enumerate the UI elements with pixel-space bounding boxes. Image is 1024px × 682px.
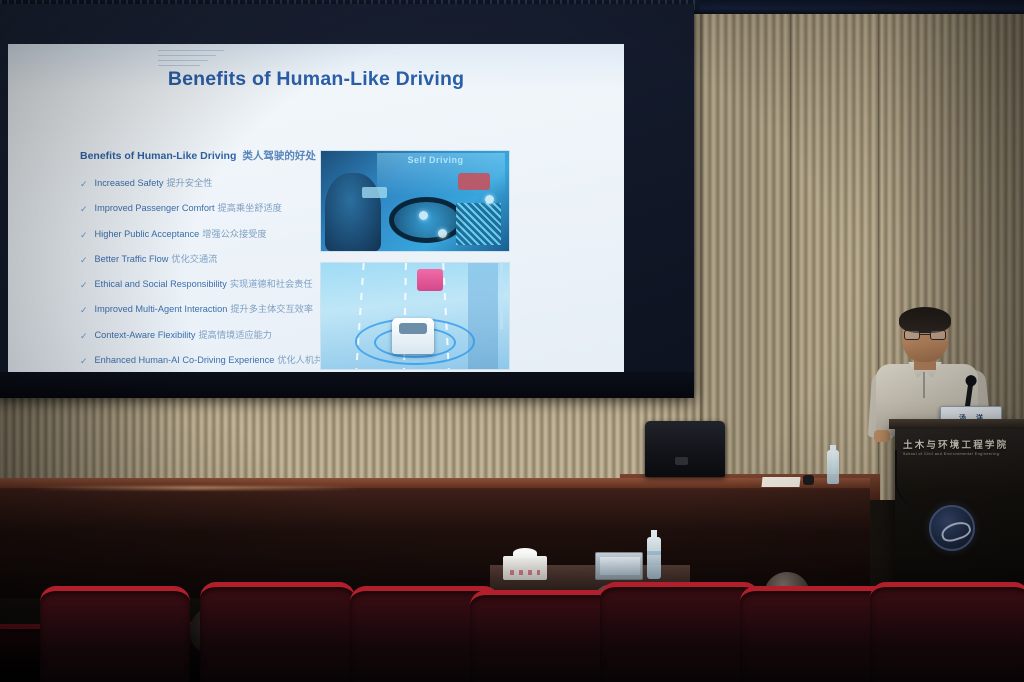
check-icon: ✓	[80, 355, 88, 367]
bullet-text-en: Improved Multi-Agent Interaction	[95, 304, 228, 314]
bullet-text-en: Improved Passenger Comfort	[95, 203, 215, 213]
bullet-text-cn: 提高情境适应能力	[198, 330, 272, 340]
lecture-hall-scene: Benefits of Human-Like Driving Benefits …	[0, 0, 1024, 682]
small-device	[803, 475, 814, 485]
hud-dot-icon	[485, 195, 494, 204]
self-driving-overlay-label: Self Driving	[407, 156, 463, 165]
papers	[761, 477, 800, 487]
projection-screen: Benefits of Human-Like Driving Benefits …	[0, 4, 694, 398]
slide-image-self-driving-cockpit: Self Driving	[320, 150, 510, 252]
slide-bullet-text: Better Traffic Flow优化交通流	[95, 254, 218, 266]
driver-silhouette	[325, 173, 381, 251]
slide-subheading-en: Benefits of Human-Like Driving	[80, 150, 236, 162]
auditorium-seat	[600, 582, 760, 682]
check-icon: ✓	[80, 330, 88, 342]
auditorium-seat	[740, 586, 890, 682]
water-bottle-desk	[827, 450, 839, 484]
slide-title: Benefits of Human-Like Driving	[8, 68, 624, 91]
slide-bullet-text: Enhanced Human-AI Co-Driving Experience优…	[95, 355, 351, 367]
podium-top-surface	[889, 419, 1024, 429]
bullet-text-en: Better Traffic Flow	[95, 254, 169, 264]
bullet-text-en: Enhanced Human-AI Co-Driving Experience	[95, 355, 275, 365]
speaker-shirt-placket	[923, 372, 925, 398]
bullet-text-en: Higher Public Acceptance	[95, 229, 200, 239]
podium-sign-chinese: 土木与环境工程学院	[903, 437, 1021, 451]
glasses-icon	[904, 330, 946, 340]
guardrail	[468, 263, 498, 369]
bullet-text-en: Increased Safety	[95, 178, 164, 188]
slide-subheading-cn: 类人驾驶的好处	[242, 150, 316, 162]
red-car-shape	[458, 173, 490, 190]
steering-wheel-shape	[389, 197, 464, 243]
check-icon: ✓	[80, 203, 88, 215]
check-icon: ✓	[80, 178, 88, 190]
side-mirror-shape	[362, 187, 386, 198]
bullet-text-cn: 增强公众接受度	[202, 229, 266, 239]
hud-dot-icon	[438, 229, 447, 238]
audience-area	[0, 560, 1024, 682]
bullet-text-cn: 提升多主体交互效率	[230, 304, 313, 314]
light-pole	[500, 263, 503, 329]
check-icon: ✓	[80, 279, 88, 291]
desk-highlight	[30, 486, 360, 490]
bullet-text-cn: 优化交通流	[171, 254, 217, 264]
slide-bullet-text: Increased Safety提升安全性	[95, 178, 213, 190]
auditorium-seat	[470, 590, 620, 682]
slide-image-autonomous-car-road	[320, 262, 510, 370]
speaker-hand	[874, 430, 890, 442]
black-equipment-case	[645, 421, 725, 477]
check-icon: ✓	[80, 229, 88, 241]
pink-car-shape	[417, 269, 443, 290]
university-emblem-icon	[929, 505, 975, 551]
bullet-text-en: Ethical and Social Responsibility	[95, 279, 227, 289]
bullet-text-en: Context-Aware Flexibility	[95, 330, 196, 340]
navigation-map-shape	[456, 203, 501, 245]
wall-seam	[790, 0, 793, 500]
slide-bullet-text: Higher Public Acceptance增强公众接受度	[95, 229, 267, 241]
bullet-text-cn: 提升安全性	[167, 178, 213, 188]
slide-bullet-text: Improved Multi-Agent Interaction提升多主体交互效…	[95, 304, 313, 316]
presentation-slide: Benefits of Human-Like Driving Benefits …	[8, 44, 624, 379]
bullet-text-cn: 提高乘坐舒适度	[218, 203, 282, 213]
slide-bullet-text: Improved Passenger Comfort提高乘坐舒适度	[95, 203, 282, 215]
slide-subheading: Benefits of Human-Like Driving类人驾驶的好处	[80, 148, 316, 163]
check-icon: ✓	[80, 254, 88, 266]
auditorium-seat	[870, 582, 1024, 682]
slide-bullet-text: Context-Aware Flexibility提高情境适应能力	[95, 330, 272, 342]
hud-dot-icon	[419, 211, 428, 220]
bullet-text-cn: 实现道德和社会责任	[230, 279, 313, 289]
auditorium-seat	[200, 582, 355, 682]
auditorium-seat	[40, 586, 190, 682]
check-icon: ✓	[80, 304, 88, 316]
white-car-shape	[392, 318, 433, 354]
slide-bullet-text: Ethical and Social Responsibility实现道德和社会…	[95, 279, 313, 291]
